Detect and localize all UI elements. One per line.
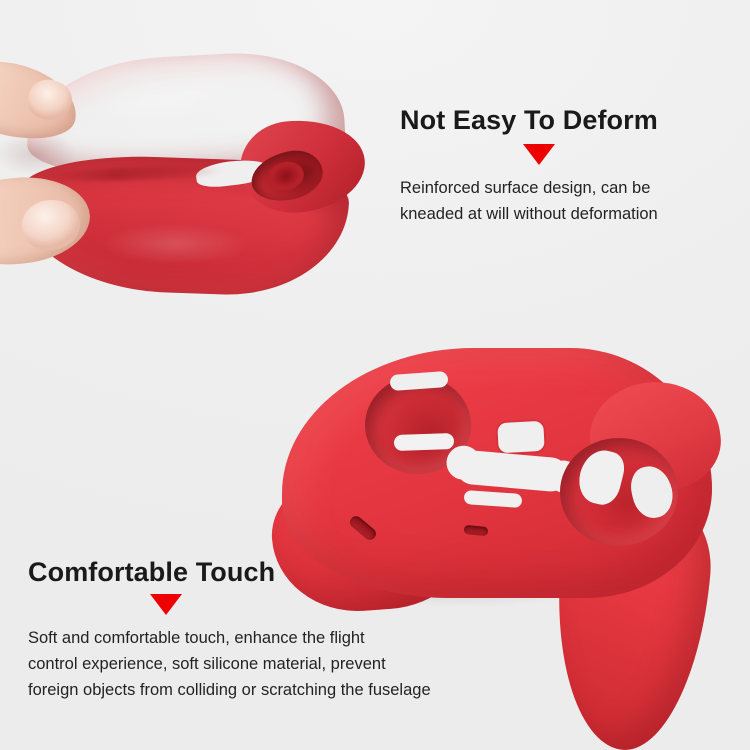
body-line: control experience, soft silicone materi… xyxy=(28,651,508,677)
body-line: Soft and comfortable touch, enhance the … xyxy=(28,625,508,651)
feature-block-comfortable-touch: Comfortable Touch Soft and comfortable t… xyxy=(28,558,508,703)
down-triangle-icon xyxy=(523,144,555,165)
silicone-lower-highlight xyxy=(80,218,270,270)
center-button-cutout xyxy=(497,421,545,453)
body-line: foreign objects from colliding or scratc… xyxy=(28,677,508,703)
body-copy-comfortable-touch: Soft and comfortable touch, enhance the … xyxy=(28,625,508,703)
headline-not-easy-to-deform: Not Easy To Deform xyxy=(400,106,720,134)
headline-comfortable-touch: Comfortable Touch xyxy=(28,558,508,586)
body-line: kneaded at will without deformation xyxy=(400,201,720,227)
feature-block-not-easy-to-deform: Not Easy To Deform Reinforced surface de… xyxy=(400,106,720,227)
body-copy-not-easy-to-deform: Reinforced surface design, can be kneade… xyxy=(400,175,720,227)
left-joystick-gap-bottom xyxy=(394,433,455,451)
product-feature-image: Not Easy To Deform Reinforced surface de… xyxy=(0,0,750,750)
hand-squeezing-silicone-case-photo xyxy=(0,28,370,303)
body-line: Reinforced surface design, can be xyxy=(400,175,720,201)
down-triangle-icon xyxy=(150,594,182,615)
